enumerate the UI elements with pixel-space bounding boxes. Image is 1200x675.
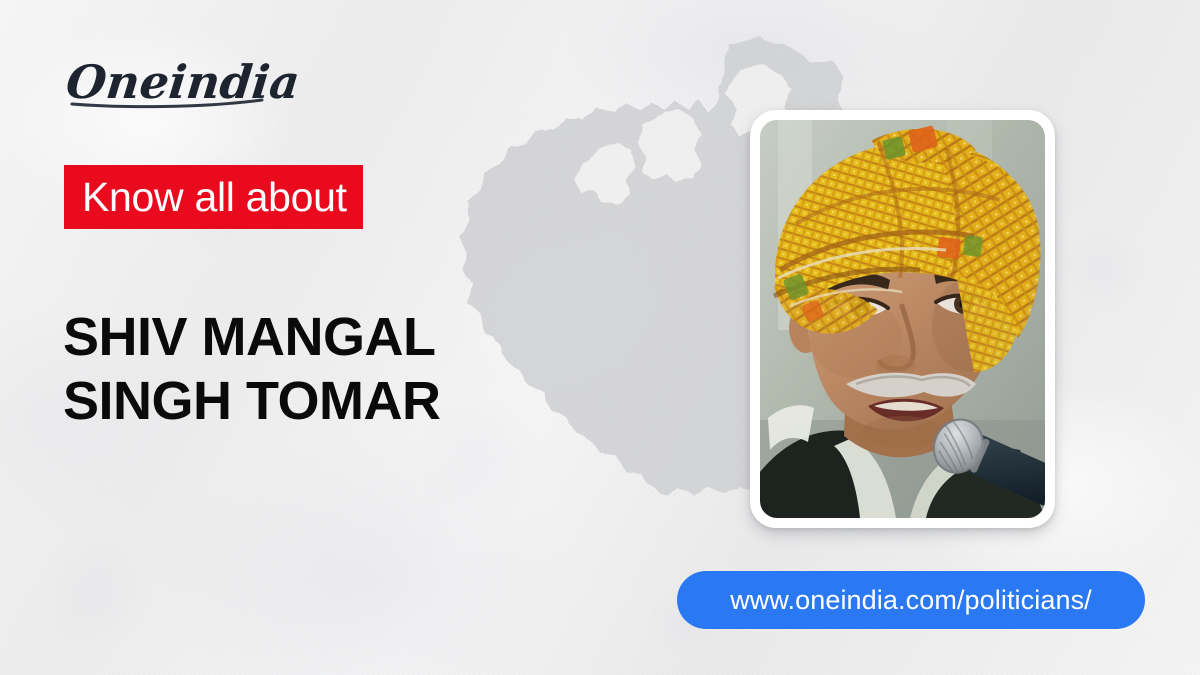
website-url-pill[interactable]: www.oneindia.com/politicians/: [677, 571, 1145, 629]
portrait-photo: [760, 120, 1045, 518]
badge-label: Know all about: [82, 177, 347, 218]
know-all-about-badge: Know all about: [64, 165, 363, 229]
website-url-text: www.oneindia.com/politicians/: [730, 587, 1092, 614]
portrait-frame: [750, 110, 1055, 528]
headline-line-2: SINGH TOMAR: [63, 369, 533, 433]
page-title: SHIV MANGAL SINGH TOMAR: [63, 305, 533, 433]
oneindia-logo[interactable]: Oneindia Oneindia: [62, 48, 322, 114]
promo-card: Oneindia Oneindia Know all about SHIV MA…: [0, 0, 1200, 675]
headline-line-1: SHIV MANGAL: [63, 305, 533, 369]
svg-text:Oneindia: Oneindia: [64, 55, 303, 109]
